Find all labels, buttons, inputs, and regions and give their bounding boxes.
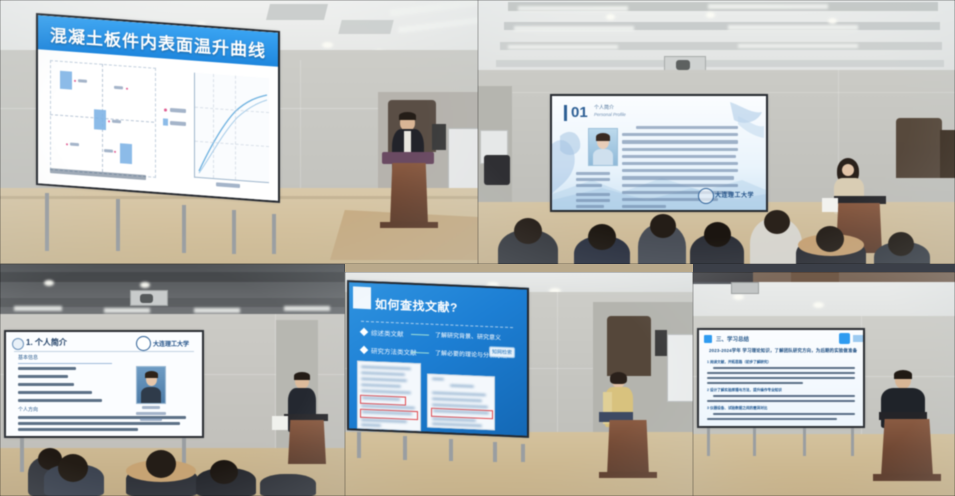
section-number: 01 [571, 104, 588, 121]
portrait-photo [588, 128, 618, 166]
papers [822, 198, 838, 212]
projector-lens [676, 60, 690, 70]
ceiling-projector [731, 282, 759, 294]
audience-row [0, 444, 345, 496]
diagram-label [104, 149, 113, 153]
legend-label-sensor: 传感器 [170, 121, 186, 126]
sensor-block [120, 143, 132, 164]
bullet-diamond-icon [360, 328, 368, 336]
whiteboard [667, 334, 693, 402]
slide-bottom-left: 1. 个人简介 大连理工大学 基本信息 个人方向 [6, 332, 202, 436]
chair [484, 155, 510, 185]
section-accent-bar [564, 105, 567, 121]
screen-leg [403, 436, 407, 460]
screen-leg [357, 432, 361, 458]
podium-base [380, 222, 438, 228]
diagram-label [114, 86, 123, 90]
audience-head [588, 224, 616, 250]
screen-leg [272, 214, 276, 254]
university-logo-icon [136, 336, 151, 351]
podium-top [382, 152, 434, 164]
laptop [879, 412, 927, 420]
ceiling-vent-2 [338, 20, 393, 34]
tag-badge: 知网检索 [489, 346, 515, 358]
screen-leg [116, 199, 120, 251]
bullet-diamond-icon [360, 346, 368, 354]
section-marker-icon [704, 335, 712, 343]
share-icon [839, 333, 850, 344]
presenter-hair [399, 112, 416, 120]
audience-head [650, 214, 676, 238]
panel-bottom-left: 1. 个人简介 大连理工大学 基本信息 个人方向 [0, 264, 345, 496]
podium-base [873, 474, 941, 481]
legend-marker-sensor [163, 118, 168, 125]
papers [272, 416, 288, 430]
measure-point [126, 88, 128, 90]
logo-mark [853, 335, 863, 342]
slide-bottom-middle: 如何查找文献? 综述类文献 了解研究背景、研究意义 研究方法类文献 了解必要的理… [349, 282, 527, 435]
podium [881, 419, 933, 477]
sensor-block [94, 109, 106, 130]
decor-sculpture [896, 118, 942, 178]
speaker-box [432, 124, 446, 150]
search-result-card [427, 374, 495, 431]
legend-label-point: 测点位置 [170, 108, 186, 113]
audience-head [210, 460, 238, 484]
numbered-item-3: 3 仪器设备、试验数据之间的差异对比 [707, 406, 768, 411]
decor-sculpture [607, 316, 651, 376]
podium-base [599, 472, 657, 478]
projector-lens [140, 294, 153, 303]
panel-top-left: 混凝土板件内表面温升曲线 [0, 0, 478, 264]
slide-title: 三、学习总结 [716, 335, 749, 343]
audience-head [146, 450, 176, 478]
screen-leg [449, 439, 453, 461]
university-logo-text: 大连理工大学 [715, 190, 754, 199]
screen-leg [521, 444, 525, 462]
laptop [834, 196, 886, 204]
slide-title: 如何查找文献? [375, 295, 458, 315]
screen-leg [45, 193, 49, 251]
section-title-cn: 个人简介 [594, 104, 614, 111]
diagram-label [78, 79, 87, 83]
slide-title: 1. 个人简介 [26, 337, 67, 348]
university-logo-icon [698, 188, 714, 204]
numbered-item-2: 2 设计了解实验原理与方法，提升操作专业知识 [707, 388, 782, 393]
arrow-line [411, 334, 429, 336]
presenter-hair [610, 372, 627, 384]
sensor-block [60, 71, 72, 90]
screen-leg [182, 205, 186, 253]
screen-leg [232, 210, 236, 254]
section-heading-direction: 个人方向 [18, 406, 38, 413]
audience-head [58, 454, 88, 482]
collage-gap-filler [345, 264, 693, 272]
measure-point [66, 143, 68, 145]
slide-bottom-right: 三、学习总结 2023-2024学年 学习理论知识，了解团队研究方向，为后期的实… [699, 330, 863, 426]
presenter-hair [894, 370, 912, 379]
audience-head [514, 218, 542, 244]
bullet-logo-icon [12, 338, 24, 350]
presenter-hair [294, 372, 310, 380]
podium [390, 163, 428, 225]
slide-lead-line: 2023-2024学年 学习理论知识，了解团队研究方向，为后期的实验做准备 [709, 348, 857, 354]
section-title-en: Personal Profile [594, 112, 626, 117]
panel-top-right: 01 个人简介 Personal Profile [478, 0, 955, 264]
laptop [284, 414, 328, 421]
whiteboard [448, 128, 478, 192]
portrait-photo [136, 366, 166, 404]
slide-top-left: 混凝土板件内表面温升曲线 [38, 15, 278, 201]
collage-gap-filler-2 [693, 264, 955, 272]
audience-head [816, 226, 844, 252]
panel-bottom-right: 三、学习总结 2023-2024学年 学习理论知识，了解团队研究方向，为后期的实… [693, 272, 955, 496]
audience-head [704, 222, 731, 247]
diagram-label [112, 120, 121, 124]
photo-collage: 混凝土板件内表面温升曲线 [0, 0, 955, 496]
screen-leg [851, 428, 854, 456]
measure-point [114, 151, 116, 153]
measure-point [74, 80, 76, 82]
screen-leg [753, 428, 756, 456]
ceiling-vent [266, 4, 328, 20]
measure-point [108, 120, 110, 122]
temperature-rise-curve [195, 73, 269, 182]
podium [607, 420, 649, 476]
audience-head [888, 232, 914, 256]
university-logo-text: 大连理工大学 [153, 339, 189, 348]
slide-top-right: 01 个人简介 Personal Profile [552, 96, 766, 210]
screen-leg [707, 428, 710, 456]
decor-sculpture-2 [940, 130, 955, 178]
audience-head [764, 210, 790, 234]
bullet-result-1: 了解研究背景、研究意义 [435, 330, 501, 342]
bullet-label-2: 研究方法类文献 [371, 345, 417, 357]
speaker-box [655, 330, 667, 356]
slide-corner-accent [353, 286, 371, 309]
legend-marker-point [164, 108, 167, 111]
bullet-label-1: 综述类文献 [371, 327, 404, 338]
diagram-label [70, 143, 79, 147]
audience-row [478, 212, 955, 264]
literature-list-card [357, 361, 421, 432]
screen-leg [493, 442, 497, 462]
chart-axis-label: 时间 (h) [216, 182, 240, 188]
downlight [322, 42, 333, 48]
audience-person [260, 474, 316, 496]
numbered-item-1: 1 阅读文献，开拓思路（初步了解研究） [707, 360, 771, 365]
screen-leg [803, 428, 806, 456]
panel-bottom-middle: 如何查找文献? 综述类文献 了解研究背景、研究意义 研究方法类文献 了解必要的理… [345, 272, 693, 496]
section-heading-basic: 基本信息 [18, 354, 38, 361]
